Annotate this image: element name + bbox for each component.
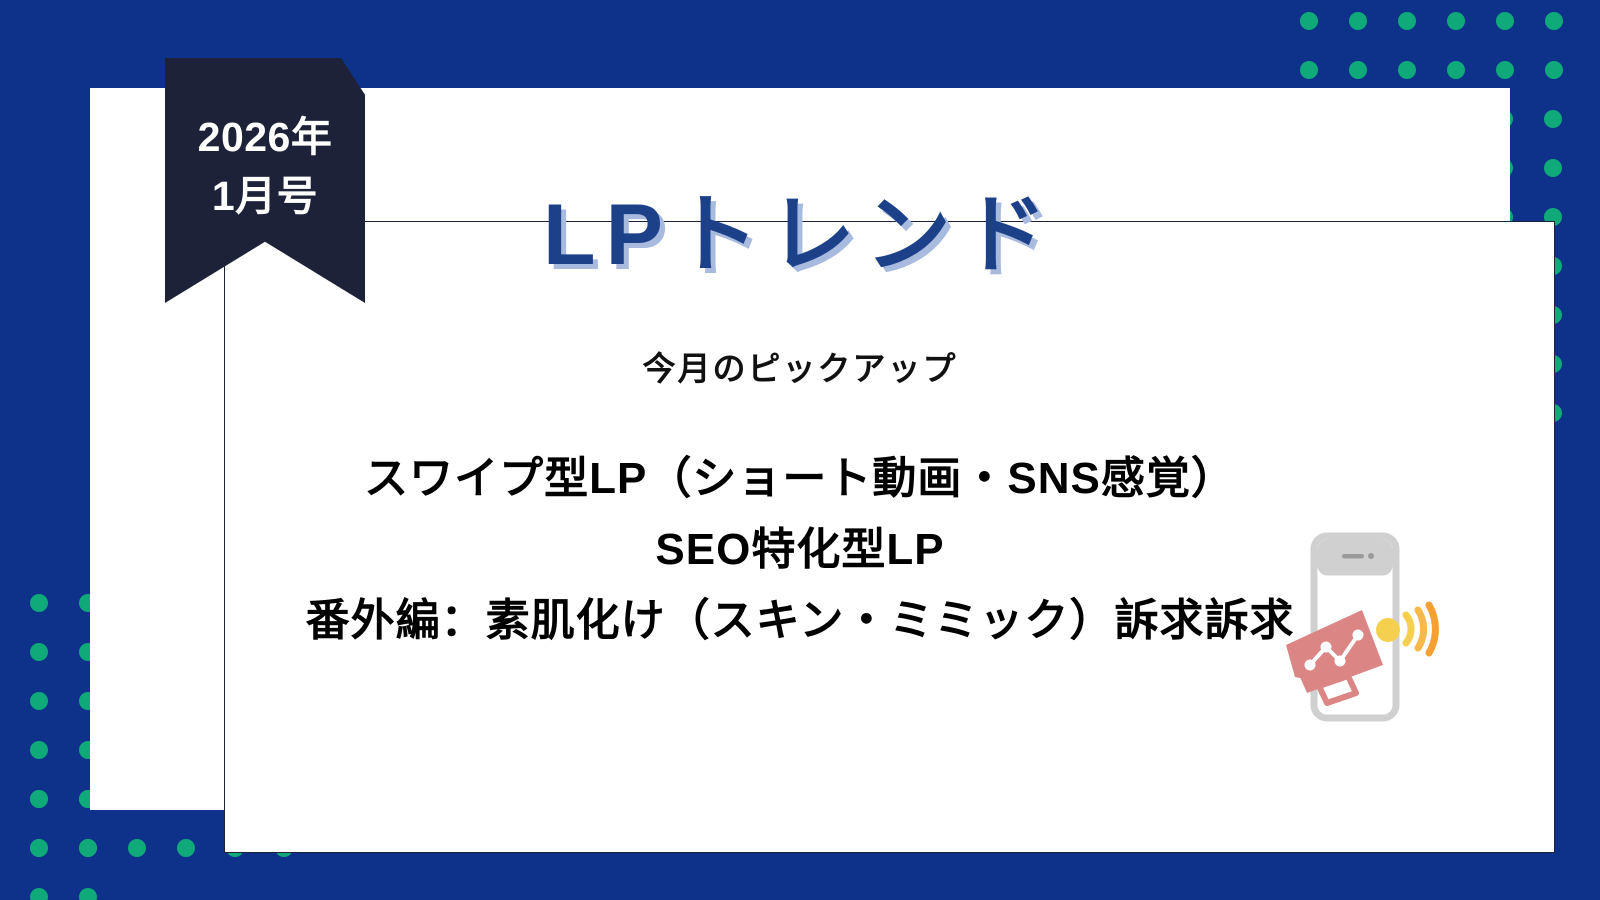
decorative-dot <box>1398 12 1416 30</box>
decorative-dot <box>1447 12 1465 30</box>
decorative-dot <box>128 839 146 857</box>
decorative-dot <box>1545 12 1563 30</box>
decorative-dot <box>79 839 97 857</box>
signal-waves-icon <box>1376 605 1435 653</box>
promo-illustration <box>1270 530 1440 725</box>
decorative-dot <box>1300 61 1318 79</box>
decorative-dot <box>1496 12 1514 30</box>
decorative-dot <box>30 790 48 808</box>
decorative-dot <box>30 692 48 710</box>
decorative-dot <box>1496 61 1514 79</box>
decorative-dot <box>177 839 195 857</box>
decorative-dot <box>1544 159 1562 177</box>
decorative-dot <box>1398 61 1416 79</box>
decorative-dot <box>30 741 48 759</box>
decorative-dot <box>1300 12 1318 30</box>
ribbon-year-label: 2026年 <box>198 108 333 167</box>
decorative-dot <box>30 888 48 900</box>
megaphone-icon <box>1286 610 1383 703</box>
decorative-dot <box>30 839 48 857</box>
slide-canvas: 2026年 1月号 LPトレンド 今月のピックアップ スワイプ型LP（ショート動… <box>0 0 1600 900</box>
decorative-dot <box>1544 110 1562 128</box>
decorative-dot <box>30 839 48 857</box>
decorative-dot <box>1545 61 1563 79</box>
decorative-dot <box>1349 61 1367 79</box>
decorative-dot <box>1349 12 1367 30</box>
decorative-dot <box>79 839 97 857</box>
pickup-list-item: スワイプ型LP（ショート動画・SNS感覚） <box>0 443 1600 514</box>
page-title: LPトレンド <box>0 192 1600 278</box>
decorative-dot <box>79 888 97 900</box>
decorative-dot <box>1447 61 1465 79</box>
pickup-subtitle: 今月のピックアップ <box>0 352 1600 385</box>
decorative-dot <box>30 790 48 808</box>
